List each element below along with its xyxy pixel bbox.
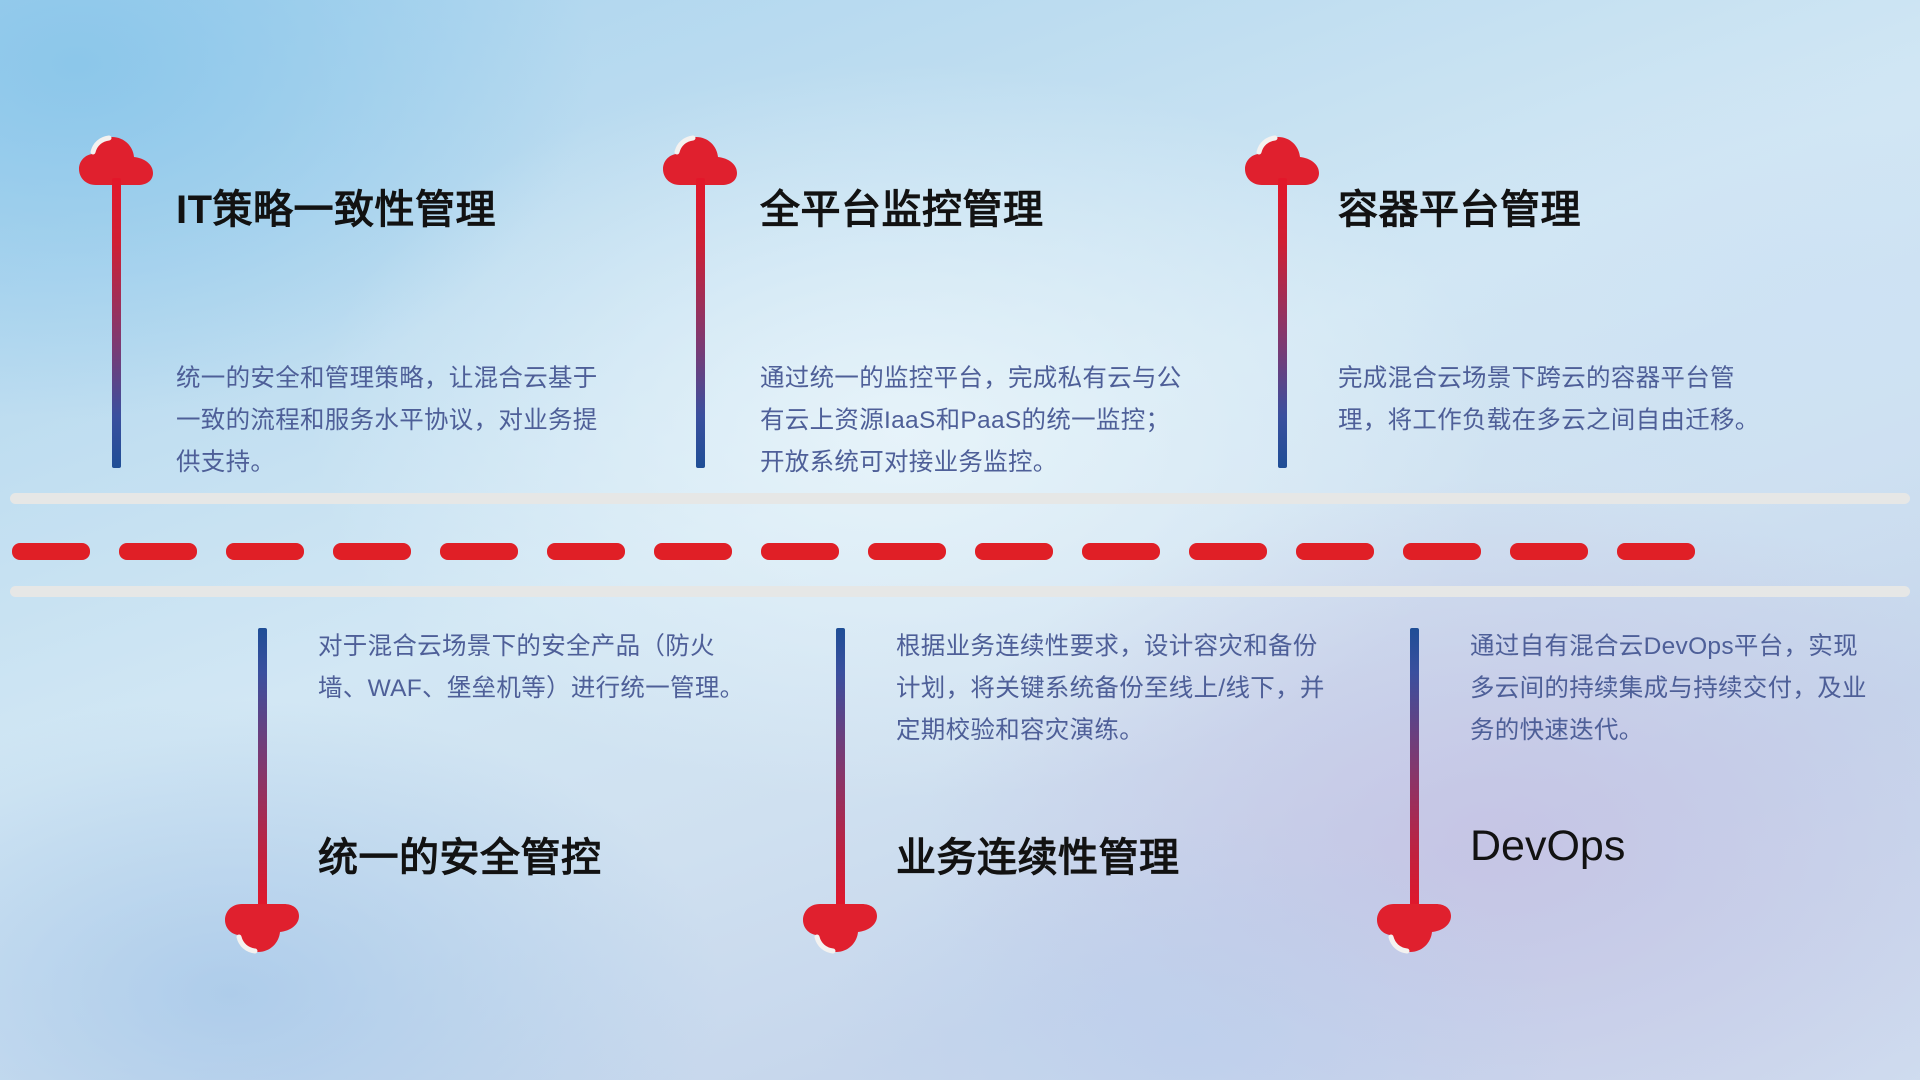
feature-description: 完成混合云场景下跨云的容器平台管理，将工作负载在多云之间自由迁移。 xyxy=(1338,358,1778,442)
road-dash xyxy=(333,543,411,560)
road-dash xyxy=(1296,543,1374,560)
feature-description: 根据业务连续性要求，设计容灾和备份计划，将关键系统备份至线上/线下，并定期校验和… xyxy=(896,626,1326,752)
road-dash xyxy=(1403,543,1481,560)
connector-stem xyxy=(258,628,267,910)
road-dash xyxy=(12,543,90,560)
cloud-icon xyxy=(224,902,300,958)
feature-title: 全平台监控管理 xyxy=(760,177,1044,235)
feature-title: IT策略一致性管理 xyxy=(176,177,496,235)
connector-stem xyxy=(1278,178,1287,468)
road-dash xyxy=(1189,543,1267,560)
road-dash xyxy=(1082,543,1160,560)
road-dash xyxy=(654,543,732,560)
connector-stem xyxy=(696,178,705,468)
road-dash xyxy=(975,543,1053,560)
feature-description: 通过统一的监控平台，完成私有云与公有云上资源IaaS和PaaS的统一监控；开放系… xyxy=(760,358,1190,484)
road-dashed-center-line xyxy=(0,543,1920,560)
road-dash xyxy=(226,543,304,560)
cloud-icon xyxy=(802,902,878,958)
road-dash xyxy=(868,543,946,560)
road-dash xyxy=(119,543,197,560)
road-dash xyxy=(1510,543,1588,560)
cloud-icon xyxy=(1376,902,1452,958)
feature-title: 统一的安全管控 xyxy=(318,825,602,883)
connector-stem xyxy=(1410,628,1419,910)
road-dash xyxy=(440,543,518,560)
connector-stem xyxy=(112,178,121,468)
road-dash xyxy=(1617,543,1695,560)
road-line-top xyxy=(10,493,1910,504)
connector-stem xyxy=(836,628,845,910)
feature-description: 对于混合云场景下的安全产品（防火墙、WAF、堡垒机等）进行统一管理。 xyxy=(318,626,748,710)
feature-description: 通过自有混合云DevOps平台，实现多云间的持续集成与持续交付，及业务的快速迭代… xyxy=(1470,626,1870,752)
road-dash xyxy=(761,543,839,560)
feature-description: 统一的安全和管理策略，让混合云基于一致的流程和服务水平协议，对业务提供支持。 xyxy=(176,358,606,484)
road-line-bottom xyxy=(10,586,1910,597)
feature-title: 业务连续性管理 xyxy=(896,825,1180,883)
road-dash xyxy=(547,543,625,560)
feature-title: DevOps xyxy=(1470,822,1625,871)
feature-title: 容器平台管理 xyxy=(1338,177,1581,235)
